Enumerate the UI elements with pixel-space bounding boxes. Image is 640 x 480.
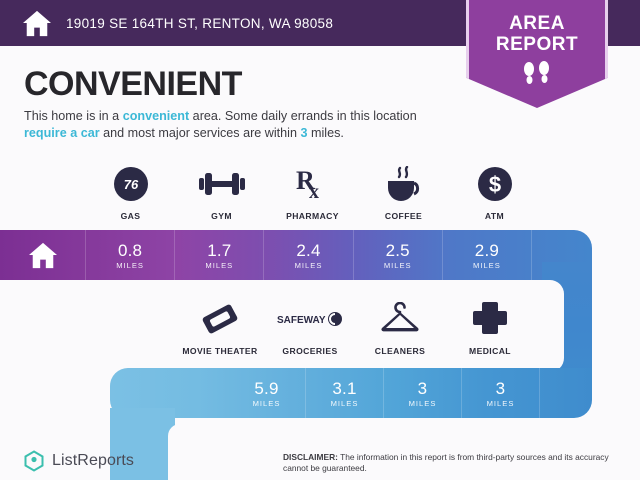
distance-cell: 3.1 MILES [306, 368, 384, 418]
distance-cell: 2.9 MILES [443, 230, 532, 280]
distance-unit: MILES [473, 261, 501, 270]
category-label: MEDICAL [469, 346, 511, 356]
distance-value: 2.5 [386, 241, 410, 260]
footprints-icon [517, 61, 557, 87]
distance-cell: 2.5 MILES [354, 230, 443, 280]
category-label: MOVIE THEATER [182, 346, 257, 356]
distance-value: 5.9 [254, 379, 278, 398]
category-label: GROCERIES [282, 346, 337, 356]
home-icon [28, 241, 58, 269]
distance-unit: MILES [487, 399, 515, 408]
badge-line-2: REPORT [469, 34, 605, 55]
desc-highlight-1: convenient [123, 109, 189, 123]
distance-unit: MILES [253, 399, 281, 408]
safeway-logo-icon: SAFEWAY [277, 298, 343, 340]
distance-unit: MILES [205, 261, 233, 270]
category-coffee: COFFEE [358, 163, 449, 221]
dollar-circle-icon: $ [477, 163, 513, 205]
listreports-house-icon [24, 450, 44, 472]
distance-cell: 3 MILES [462, 368, 540, 418]
page-description: This home is in a convenient area. Some … [24, 108, 444, 142]
distance-value: 0.8 [118, 241, 142, 260]
distance-unit: MILES [116, 261, 144, 270]
movie-ticket-icon [200, 298, 240, 340]
area-report-badge: AREA REPORT [466, 0, 608, 108]
distance-cell: 0.8 MILES [86, 230, 175, 280]
category-gas: 76 GAS [85, 163, 176, 221]
badge-line-1: AREA [469, 13, 605, 34]
category-gym: GYM [176, 163, 267, 221]
brand-name: ListReports [52, 452, 134, 470]
dumbbell-icon [199, 163, 245, 205]
desc-part-4: miles. [308, 126, 344, 140]
page-title: CONVENIENT [24, 65, 242, 104]
category-atm: $ ATM [449, 163, 540, 221]
category-label: GAS [121, 211, 141, 221]
category-icon-row-2: MOVIE THEATER SAFEWAY GROCERIES CLEANER [175, 298, 535, 356]
svg-text:76: 76 [123, 177, 138, 192]
distance-unit: MILES [409, 399, 437, 408]
distance-value: 3.1 [332, 379, 356, 398]
area-report-page: 19019 SE 164TH ST, RENTON, WA 98058 AREA… [0, 0, 640, 480]
category-label: GYM [211, 211, 232, 221]
distance-unit: MILES [384, 261, 412, 270]
brand-logo[interactable]: ListReports [24, 450, 134, 472]
distance-unit: MILES [331, 399, 359, 408]
desc-highlight-3: 3 [300, 126, 307, 140]
home-icon [22, 9, 52, 37]
distance-value: 3 [496, 379, 506, 398]
distance-value: 2.9 [475, 241, 499, 260]
distance-cell: 3 MILES [384, 368, 462, 418]
distance-cell: 5.9 MILES [228, 368, 306, 418]
category-label: CLEANERS [375, 346, 425, 356]
category-icon-row-1: 76 GAS GYM R x [85, 163, 540, 221]
desc-part-2: area. Some daily errands in this locatio… [189, 109, 417, 123]
gas-76-icon: 76 [113, 163, 149, 205]
category-movie-theater: MOVIE THEATER [175, 298, 265, 356]
category-label: PHARMACY [286, 211, 339, 221]
category-medical: MEDICAL [445, 298, 535, 356]
category-label: COFFEE [385, 211, 422, 221]
distance-cell: 2.4 MILES [264, 230, 353, 280]
coffee-cup-icon [383, 163, 425, 205]
category-label: ATM [485, 211, 504, 221]
distance-unit: MILES [295, 261, 323, 270]
svg-text:x: x [309, 181, 319, 203]
rx-icon: R x [294, 163, 332, 205]
distance-value: 3 [418, 379, 428, 398]
category-cleaners: CLEANERS [355, 298, 445, 356]
category-groceries: SAFEWAY GROCERIES [265, 298, 355, 356]
desc-highlight-2: require a car [24, 126, 100, 140]
distance-bar-row-2: 5.9 MILES 3.1 MILES 3 MILES 3 MILES [110, 368, 592, 418]
hanger-icon [378, 298, 422, 340]
ribbon-left-notch [168, 424, 208, 480]
distance-bar-row-1: 0.8 MILES 1.7 MILES 2.4 MILES 2.5 MILES … [0, 230, 592, 280]
distance-value: 1.7 [207, 241, 231, 260]
svg-text:SAFEWAY: SAFEWAY [277, 315, 326, 326]
medical-cross-icon [471, 298, 509, 340]
desc-part-3: and most major services are within [100, 126, 301, 140]
category-pharmacy: R x PHARMACY [267, 163, 358, 221]
disclaimer-label: DISCLAIMER: [283, 452, 338, 462]
desc-part-1: This home is in a [24, 109, 123, 123]
disclaimer: DISCLAIMER: The information in this repo… [283, 452, 613, 474]
bar-tail [540, 368, 592, 418]
distance-value: 2.4 [296, 241, 320, 260]
svg-text:$: $ [488, 172, 500, 197]
property-address: 19019 SE 164TH ST, RENTON, WA 98058 [66, 16, 333, 31]
home-marker [0, 230, 86, 280]
distance-cell: 1.7 MILES [175, 230, 264, 280]
